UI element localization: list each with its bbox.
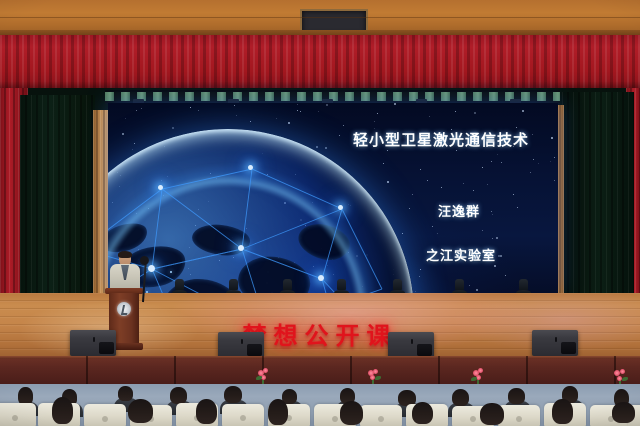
slide-speaker-name: 汪逸群 [438,201,480,220]
red-stage-valance [0,35,640,95]
audience-head [452,389,469,406]
audience-seat [360,405,402,426]
stage-front-panel [0,356,640,384]
network-globe-graphic [108,129,414,293]
slide-organization: 之江实验室 [426,245,496,264]
slide-title: 轻小型卫星激光通信技术 [353,129,529,150]
audience-head [480,403,504,425]
stage-monitor-speaker [218,332,264,358]
audience-head [170,387,187,404]
audience-head [118,386,133,401]
audience-head [340,401,363,425]
stage-monitor-speaker [70,330,116,356]
audience-head [412,402,433,425]
circular-institution-emblem [117,302,131,316]
audience-seat [0,403,36,426]
led-video-wall: 轻小型卫星激光通信技术 汪逸群 之江实验室 [108,103,558,293]
audience-head [508,388,525,404]
audience-seat [498,405,540,426]
presenter-hair [118,251,132,258]
audience-seat [84,404,126,426]
audience-head [612,402,635,423]
stage-monitor-speaker [388,332,434,358]
audience-head [52,397,73,424]
audience-seat [222,404,264,426]
auditorium-stage-photo: 轻小型卫星激光通信技术 汪逸群 之江实验室 梦想公开课 [0,0,640,426]
audience-head [224,386,242,403]
audience-head [128,399,153,423]
audience-head [552,399,573,424]
audience-head [196,399,217,424]
audience-head [268,399,288,426]
stage-monitor-speaker [532,330,578,356]
ceiling-panel [0,0,640,34]
